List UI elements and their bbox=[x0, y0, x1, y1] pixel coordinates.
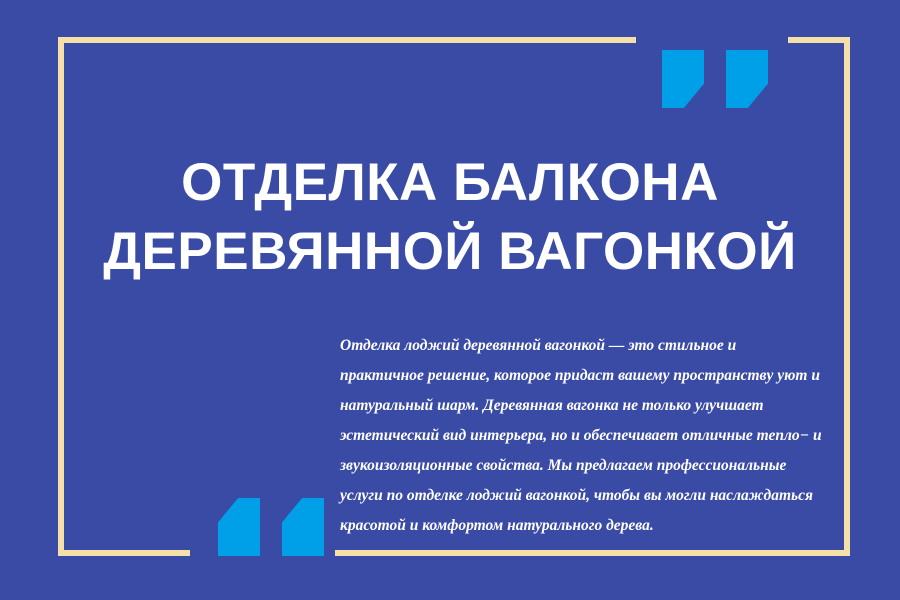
frame-border-right bbox=[844, 37, 850, 556]
frame-border-bottom-left bbox=[58, 550, 190, 556]
closing-quote-glyph-2 bbox=[726, 50, 768, 108]
closing-quote-glyph-1 bbox=[662, 50, 704, 108]
frame-border-bottom-right bbox=[335, 550, 850, 556]
slide-canvas: ОТДЕЛКА БАЛКОНА ДЕРЕВЯННОЙ ВАГОНКОЙ Отде… bbox=[0, 0, 900, 600]
opening-quote-icon bbox=[218, 498, 324, 556]
opening-quote-glyph-2 bbox=[282, 498, 324, 556]
page-title-line-1: ОТДЕЛКА БАЛКОНА bbox=[0, 148, 900, 217]
frame-border-top-left bbox=[58, 37, 636, 43]
frame-border-top-right bbox=[788, 37, 850, 43]
frame-border-left bbox=[58, 37, 64, 556]
body-paragraph: Отделка лоджий деревянной вагонкой — это… bbox=[340, 331, 822, 541]
page-title: ОТДЕЛКА БАЛКОНА ДЕРЕВЯННОЙ ВАГОНКОЙ bbox=[0, 148, 900, 286]
page-title-line-2: ДЕРЕВЯННОЙ ВАГОНКОЙ bbox=[0, 217, 900, 286]
opening-quote-glyph-1 bbox=[218, 498, 260, 556]
closing-quote-icon bbox=[662, 50, 768, 108]
